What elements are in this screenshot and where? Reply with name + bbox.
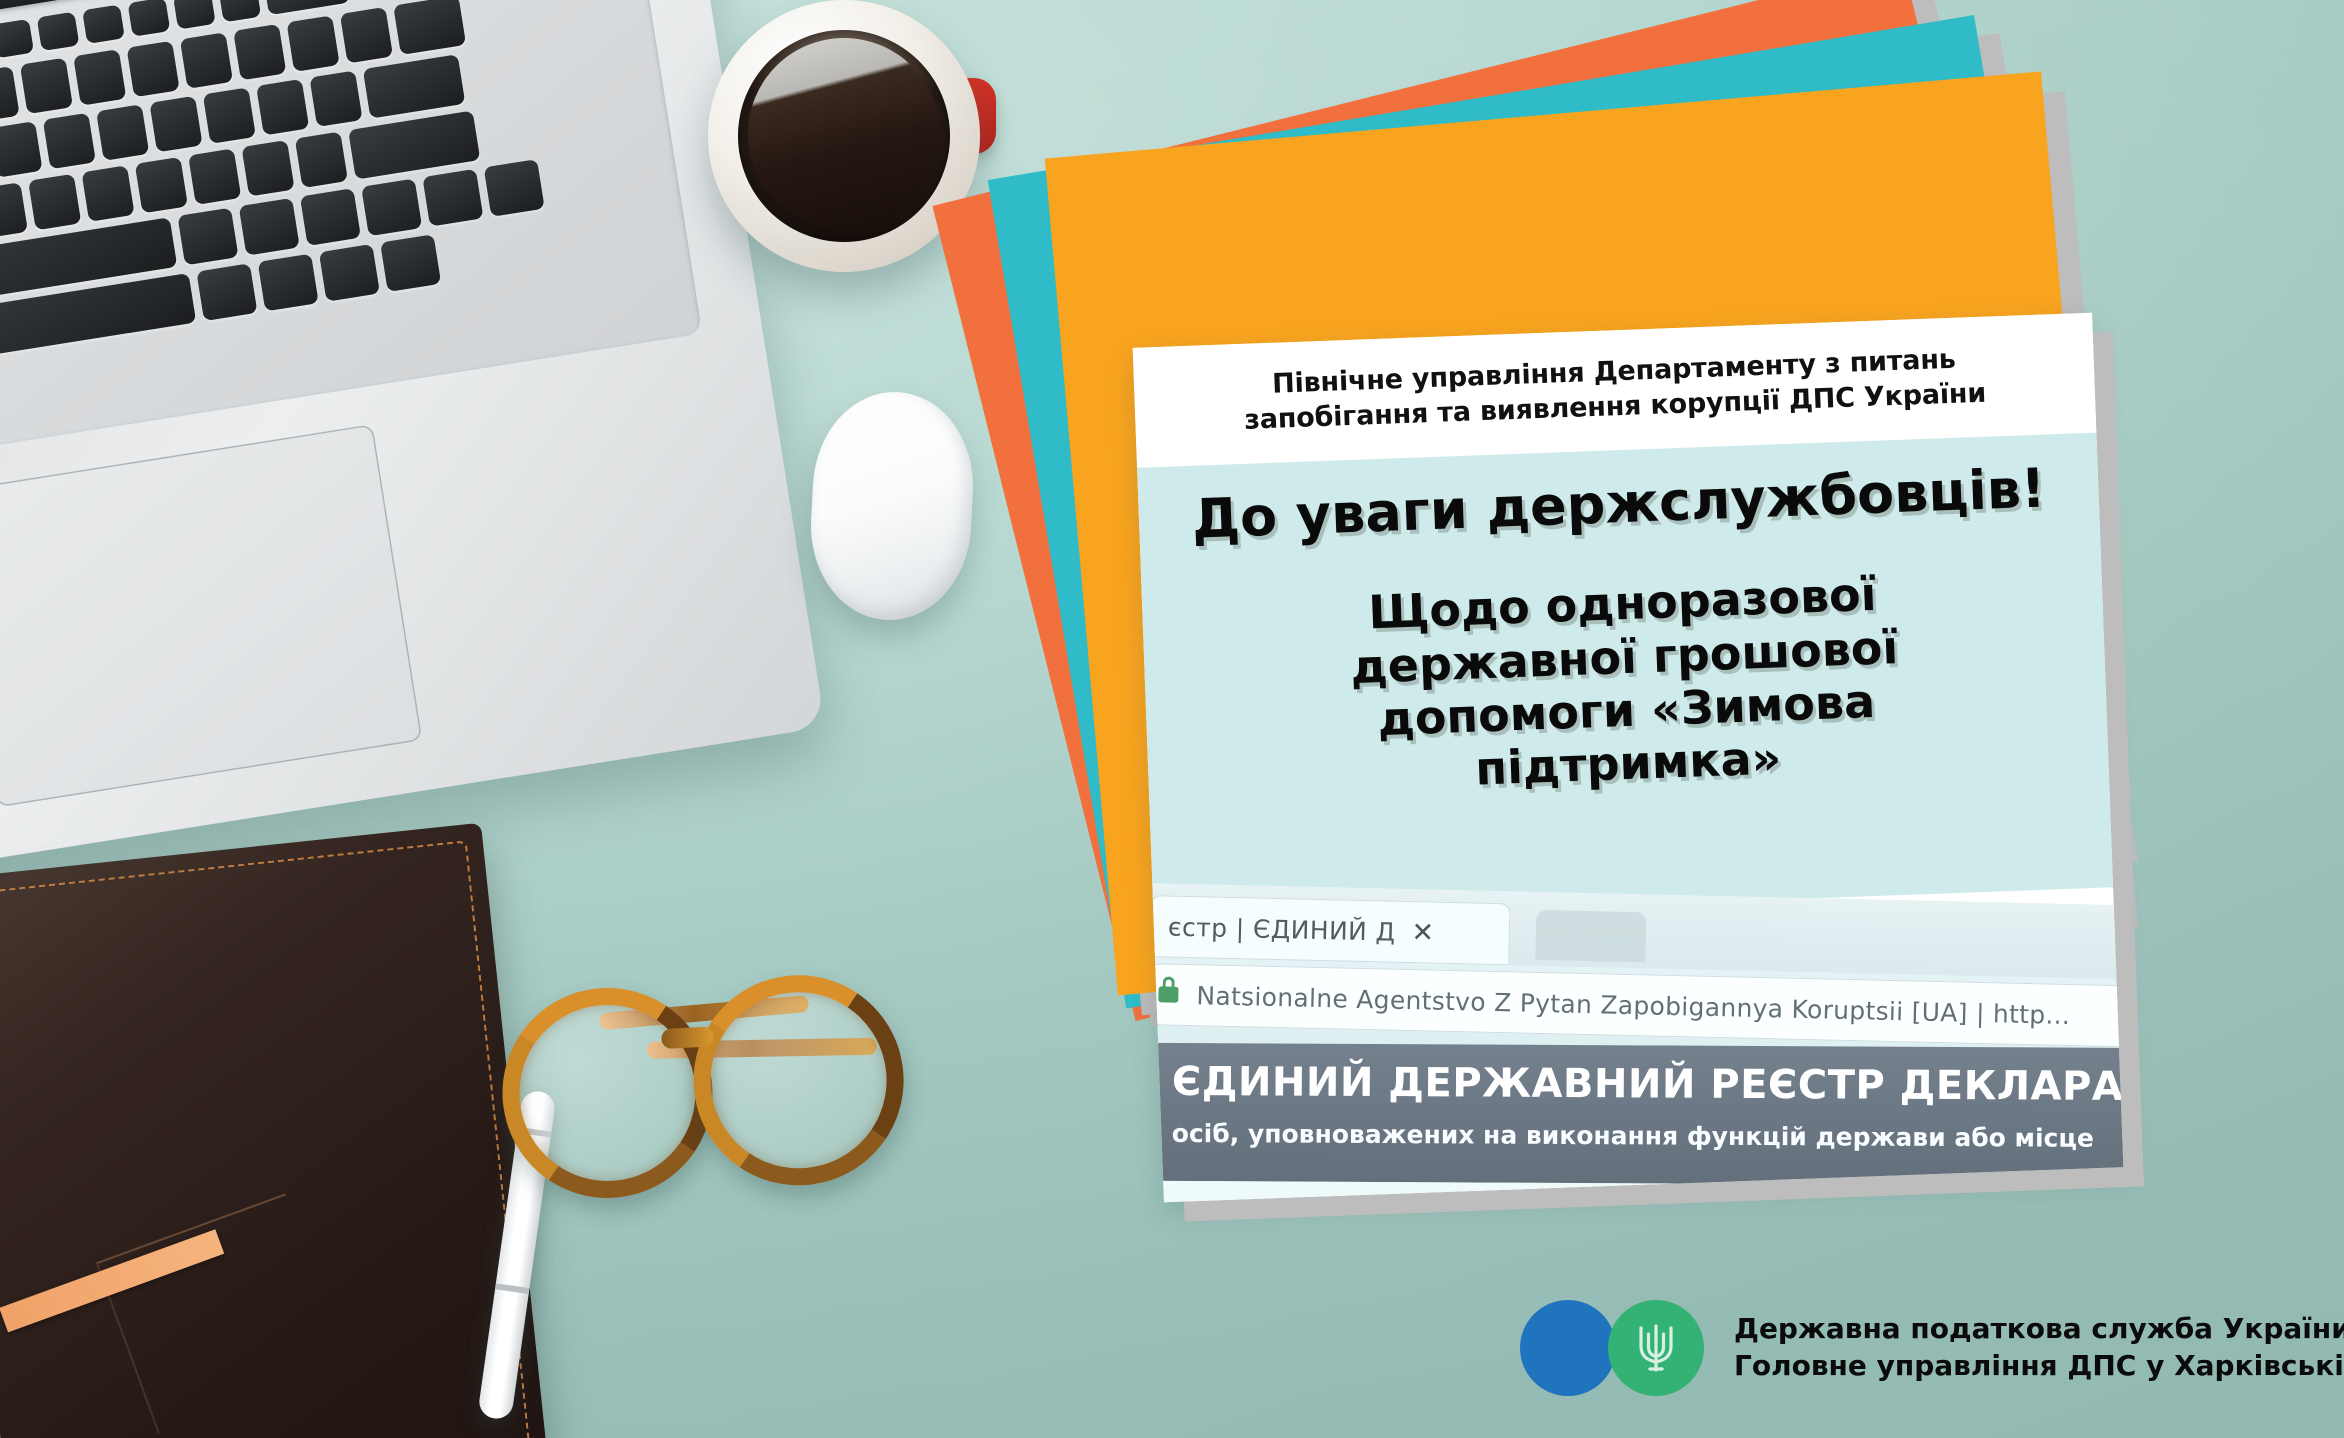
keyboard-key [422,169,483,227]
keyboard-key [28,174,81,231]
close-icon[interactable]: ✕ [1411,919,1434,947]
keyboard-key [295,132,348,189]
keyboard-key [177,208,238,266]
keyboard-key [96,104,149,161]
keyboard-key [319,244,380,302]
browser-screenshot-photo: єстр | ЄДИНИЙ Д ✕ Natsionalne Agentstvo … [1133,882,2124,1202]
page-title: До уваги держслужбовців! [1191,459,2047,550]
keyboard-key [300,188,361,246]
keyboard-key [149,96,202,153]
registry-banner-subtitle: осіб, уповноважених на виконання функцій… [1172,1119,2094,1153]
keyboard-key [239,198,300,256]
poster-canvas: Північне управління Департаменту з питан… [0,0,2344,1438]
keyboard-key [363,54,466,118]
keyboard-key [173,0,216,30]
keyboard-key [0,182,28,239]
keyboard-key [82,4,125,44]
card-subtitle: Щодо одноразової державної грошової допо… [1348,567,1903,800]
keyboard-key [218,0,261,22]
ukraine-trident-icon [1634,1320,1678,1376]
keyboard-key [43,113,96,170]
registry-banner: ЄДИНИЙ ДЕРЖАВНИЙ РЕЄСТР ДЕКЛАРАЦІЙ осіб,… [1133,1043,2124,1187]
registry-banner-title: ЄДИНИЙ ДЕРЖАВНИЙ РЕЄСТР ДЕКЛАРАЦІЙ [1172,1059,2123,1110]
announcement-card: Північне управління Департаменту з питан… [1133,313,2124,1203]
keyboard-key [180,32,233,89]
keyboard-key [126,41,179,98]
pen-ring-bottom [495,1283,530,1294]
keyboard-key [20,58,73,115]
logo-green-circle [1608,1300,1704,1396]
browser-new-tab-button[interactable] [1535,910,1646,962]
keyboard-key [393,0,466,55]
organization-logo: Державна податкова служба України Головн… [1520,1300,2344,1396]
keyboard-key [81,165,134,222]
keyboard-key [73,49,126,106]
keyboard-key [380,234,441,292]
glasses-bridge [661,1026,714,1049]
browser-url-text: Natsionalne Agentstvo Z Pytan Zapobigann… [1196,981,2070,1030]
keyboard-key [286,15,339,72]
keyboard-key [128,0,171,37]
browser-tab-title: єстр | ЄДИНИЙ Д [1168,912,1396,946]
browser-tab[interactable]: єстр | ЄДИНИЙ Д ✕ [1149,895,1510,965]
logo-blue-circle [1520,1300,1616,1396]
logo-line2: Головне управління ДПС у Харківській обл… [1734,1348,2344,1385]
keyboard-key [484,159,545,217]
keyboard-key [264,0,350,15]
logo-text: Державна податкова служба України Головн… [1734,1311,2344,1385]
card-body: До уваги держслужбовців! Щодо одноразово… [1137,433,2113,923]
keyboard-key [241,140,294,197]
keyboard-key [348,111,480,180]
keyboard-key [256,79,309,136]
logo-line1: Державна податкова служба України [1734,1311,2344,1348]
keyboard-key [196,263,257,321]
keyboard-key [340,7,393,64]
keyboard-key [0,121,43,178]
keyboard-key [258,254,319,312]
coffee-surface [748,38,940,230]
keyboard-key [0,19,34,59]
laptop-trackpad [0,424,422,807]
keyboard-key [188,148,241,205]
lock-icon [1158,986,1178,1002]
keyboard-key [233,24,286,81]
keyboard-key [309,70,362,127]
notebook-icon [0,823,556,1438]
card-header-text: Північне управління Департаменту з питан… [1208,341,2020,440]
keyboard-key [37,12,80,52]
keyboard-key [0,66,20,123]
keyboard-key [135,157,188,214]
keyboard-key [361,178,422,236]
keyboard-key [203,87,256,144]
